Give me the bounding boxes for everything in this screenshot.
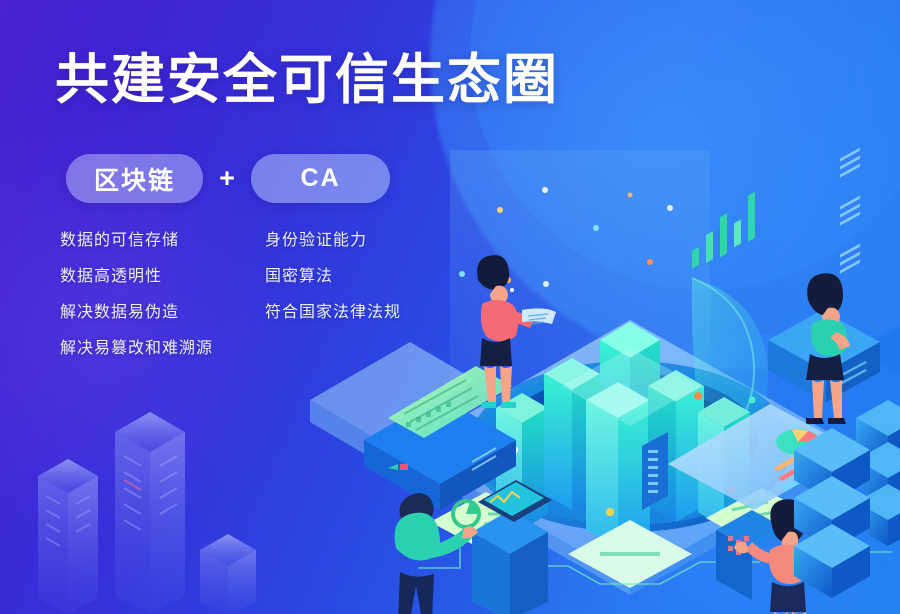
feature-item: 符合国家法律法规 <box>265 304 401 322</box>
pill-blockchain[interactable]: 区块链 <box>66 154 203 203</box>
main-illustration <box>300 150 900 614</box>
hero-banner: 共建安全可信生态圈 区块链 + CA 数据的可信存储 数据高透明性 解决数据易伪… <box>0 0 900 614</box>
feature-lists: 数据的可信存储 数据高透明性 解决数据易伪造 解决易篡改和难溯源 身份验证能力 … <box>60 232 401 376</box>
iso-tower-left <box>38 459 98 614</box>
feature-item: 身份验证能力 <box>265 232 401 250</box>
feature-column-ca: 身份验证能力 国密算法 符合国家法律法规 <box>265 232 401 376</box>
feature-item: 解决易篡改和难溯源 <box>60 340 265 358</box>
page-title: 共建安全可信生态圈 <box>55 48 559 112</box>
feature-item: 国密算法 <box>265 268 401 286</box>
iso-tower-center <box>115 412 185 614</box>
pill-ca[interactable]: CA <box>251 154 390 203</box>
feature-item: 数据的可信存储 <box>60 232 265 250</box>
decorative-iso-towers <box>0 384 270 614</box>
iso-tower-right <box>200 534 256 614</box>
pill-blockchain-label: 区块链 <box>94 161 175 197</box>
tech-pill-row: 区块链 + CA <box>66 154 390 203</box>
seated-woman-on-block <box>768 273 880 424</box>
pill-ca-label: CA <box>300 164 340 193</box>
feature-item: 数据高透明性 <box>60 268 265 286</box>
feature-column-blockchain: 数据的可信存储 数据高透明性 解决数据易伪造 解决易篡改和难溯源 <box>60 232 265 376</box>
feature-item: 解决数据易伪造 <box>60 304 265 322</box>
plus-symbol: + <box>203 163 251 194</box>
